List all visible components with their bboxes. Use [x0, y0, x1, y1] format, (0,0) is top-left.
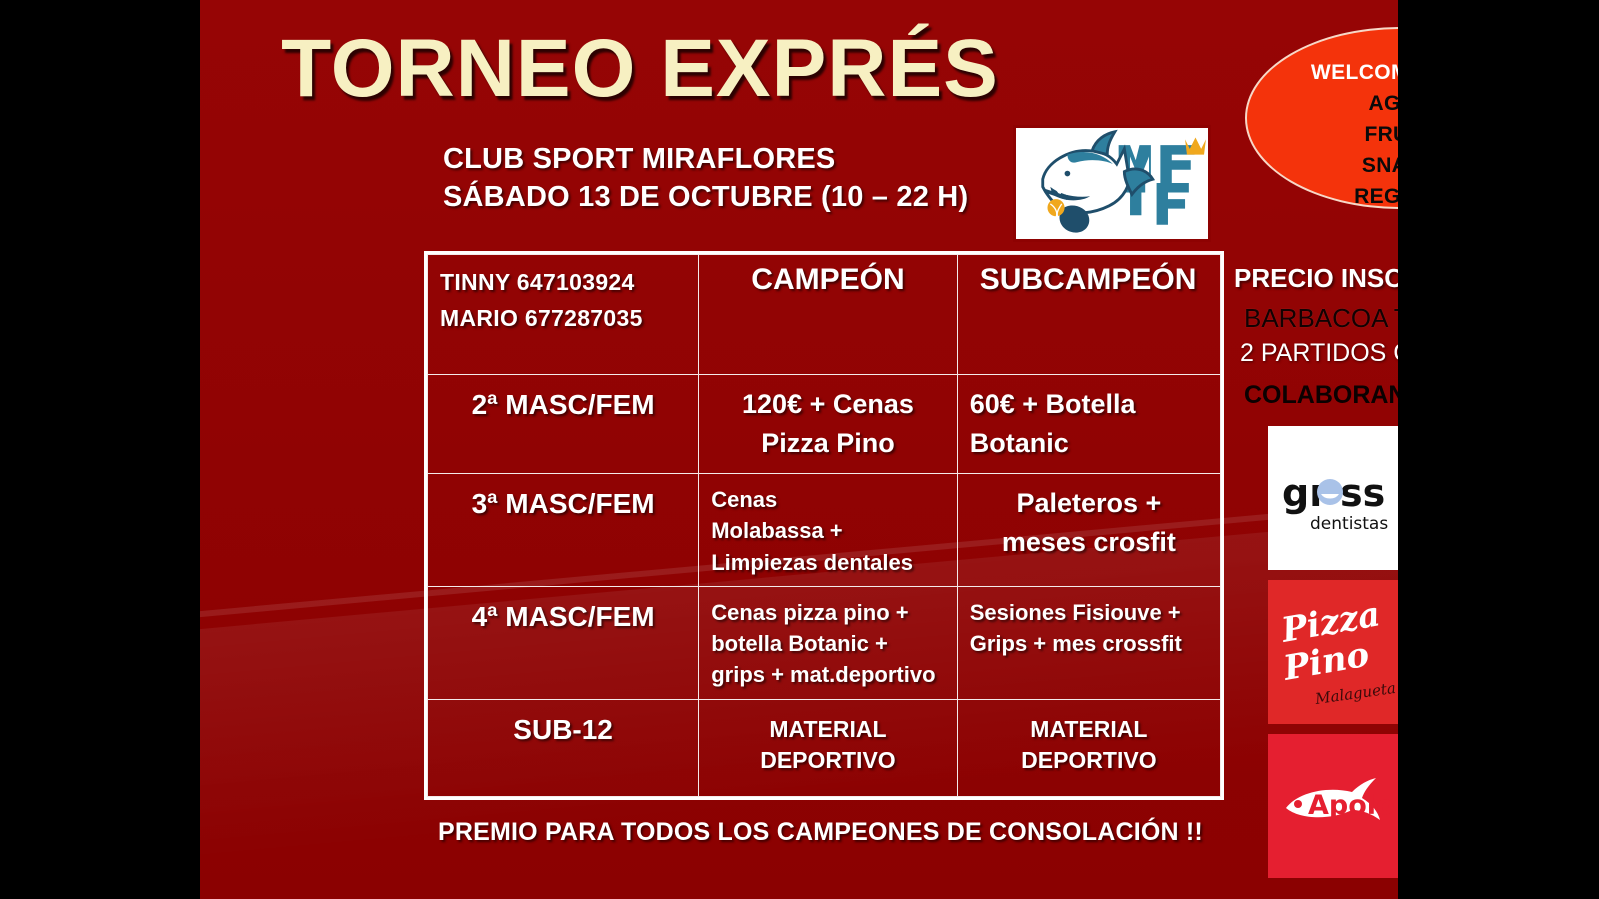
prize-table: TINNY 647103924 MARIO 677287035 CAMPEÓN … [427, 254, 1221, 797]
welcome-pack-item-regalo: REGALO [1247, 185, 1398, 209]
pizza-pino-logo-icon: Pizza Pino Malagueta [1268, 580, 1398, 724]
prize-line: meses crosfit [970, 523, 1208, 562]
contacts-cell: TINNY 647103924 MARIO 677287035 [428, 255, 699, 375]
page-title: TORNEO EXPRÉS [200, 22, 1080, 116]
prize-line: MATERIAL [970, 714, 1208, 745]
column-header-runnerup: SUBCAMPEÓN [957, 255, 1220, 375]
category-3: 3ª MASC/FEM [428, 474, 699, 587]
poster-panel: TORNEO EXPRÉS CLUB SPORT MIRAFLORES SÁBA… [200, 0, 1398, 899]
welcome-pack-item-fruta: FRUTA [1247, 123, 1398, 147]
prize-table-wrapper: TINNY 647103924 MARIO 677287035 CAMPEÓN … [424, 251, 1224, 800]
prize-line: grips + mat.deportivo [711, 659, 945, 690]
gross-logo-icon: gr ss dentistas [1268, 426, 1398, 570]
club-logo [1013, 125, 1211, 242]
svg-text:Apolo: Apolo [1308, 790, 1395, 821]
welcome-pack-item-snack: SNACK [1247, 154, 1398, 178]
prize-line: 120€ + Cenas [711, 385, 945, 424]
welcome-pack-item-agua: AGUA [1247, 92, 1398, 116]
runnerup-prize-sub12: MATERIAL DEPORTIVO [957, 699, 1220, 797]
sponsor-gross-dentistas: gr ss dentistas [1268, 426, 1398, 570]
consolation-note: PREMIO PARA TODOS LOS CAMPEONES DE CONSO… [438, 818, 1203, 847]
category-4: 4ª MASC/FEM [428, 586, 699, 699]
runnerup-prize-2: 60€ + Botella Botanic [957, 374, 1220, 473]
category-sub12: SUB-12 [428, 699, 699, 797]
table-header-row: TINNY 647103924 MARIO 677287035 CAMPEÓN … [428, 255, 1221, 375]
prize-line: Cenas pizza pino + [711, 597, 945, 628]
contact-mario: MARIO 677287035 [440, 301, 686, 337]
sponsor-grid: gr ss dentistas MOLA BASSA Pi [1268, 426, 1398, 868]
prize-line: DEPORTIVO [970, 745, 1208, 776]
category-2: 2ª MASC/FEM [428, 374, 699, 473]
prize-line: 60€ + Botella [970, 385, 1208, 424]
sponsors-label: COLABORAN: [1244, 381, 1398, 410]
runnerup-prize-4: Sesiones Fisiouve + Grips + mes crossfit [957, 586, 1220, 699]
prize-line: Grips + mes crossfit [970, 628, 1208, 659]
guaranteed-matches-note: 2 PARTIDOS GARANTIZADOS [1240, 339, 1398, 368]
prize-line: Paleteros + [970, 484, 1208, 523]
table-row: 3ª MASC/FEM Cenas Molabassa + Limpiezas … [428, 474, 1221, 587]
champion-prize-sub12: MATERIAL DEPORTIVO [699, 699, 958, 797]
left-letterbox-bar [0, 0, 200, 899]
svg-text:ss: ss [1340, 471, 1385, 515]
prize-line: Botanic [970, 424, 1208, 463]
barbecue-note: BARBACOA TODO EL DIA [1244, 303, 1398, 334]
table-row: 2ª MASC/FEM 120€ + Cenas Pizza Pino 60€ … [428, 374, 1221, 473]
registration-price: PRECIO INSCRIPCIÓN 15€ [1234, 263, 1398, 294]
prize-line: DEPORTIVO [711, 745, 945, 776]
sponsor-apolo: Apolo [1268, 734, 1398, 878]
prize-line: Sesiones Fisiouve + [970, 597, 1208, 628]
poster-stage: TORNEO EXPRÉS CLUB SPORT MIRAFLORES SÁBA… [0, 0, 1599, 899]
club-name: CLUB SPORT MIRAFLORES [443, 140, 968, 178]
champion-prize-4: Cenas pizza pino + botella Botanic + gri… [699, 586, 958, 699]
contact-tinny: TINNY 647103924 [440, 265, 686, 301]
welcome-pack-badge: WELCOME PACK AGUA FRUTA SNACK REGALO [1245, 27, 1398, 209]
runnerup-prize-3: Paleteros + meses crosfit [957, 474, 1220, 587]
welcome-pack-title: WELCOME PACK [1247, 61, 1398, 85]
prize-line: Cenas [711, 484, 945, 515]
column-header-champion: CAMPEÓN [699, 255, 958, 375]
club-info: CLUB SPORT MIRAFLORES SÁBADO 13 DE OCTUB… [443, 140, 968, 217]
shark-icon [1016, 128, 1208, 239]
right-letterbox-bar [1398, 0, 1599, 899]
prize-line: Molabassa + [711, 515, 945, 546]
svg-text:dentistas: dentistas [1310, 514, 1388, 534]
svg-text:Malagueta: Malagueta [1313, 679, 1397, 708]
apolo-logo-icon: Apolo [1268, 734, 1398, 878]
champion-prize-3: Cenas Molabassa + Limpiezas dentales [699, 474, 958, 587]
prize-line: MATERIAL [711, 714, 945, 745]
table-row: SUB-12 MATERIAL DEPORTIVO MATERIAL DEPOR… [428, 699, 1221, 797]
champion-prize-2: 120€ + Cenas Pizza Pino [699, 374, 958, 473]
prize-line: Limpiezas dentales [711, 547, 945, 578]
table-row: 4ª MASC/FEM Cenas pizza pino + botella B… [428, 586, 1221, 699]
event-date: SÁBADO 13 DE OCTUBRE (10 – 22 H) [443, 178, 968, 216]
prize-line: Pizza Pino [711, 424, 945, 463]
sponsor-pizza-pino: Pizza Pino Malagueta [1268, 580, 1398, 724]
prize-line: botella Botanic + [711, 628, 945, 659]
